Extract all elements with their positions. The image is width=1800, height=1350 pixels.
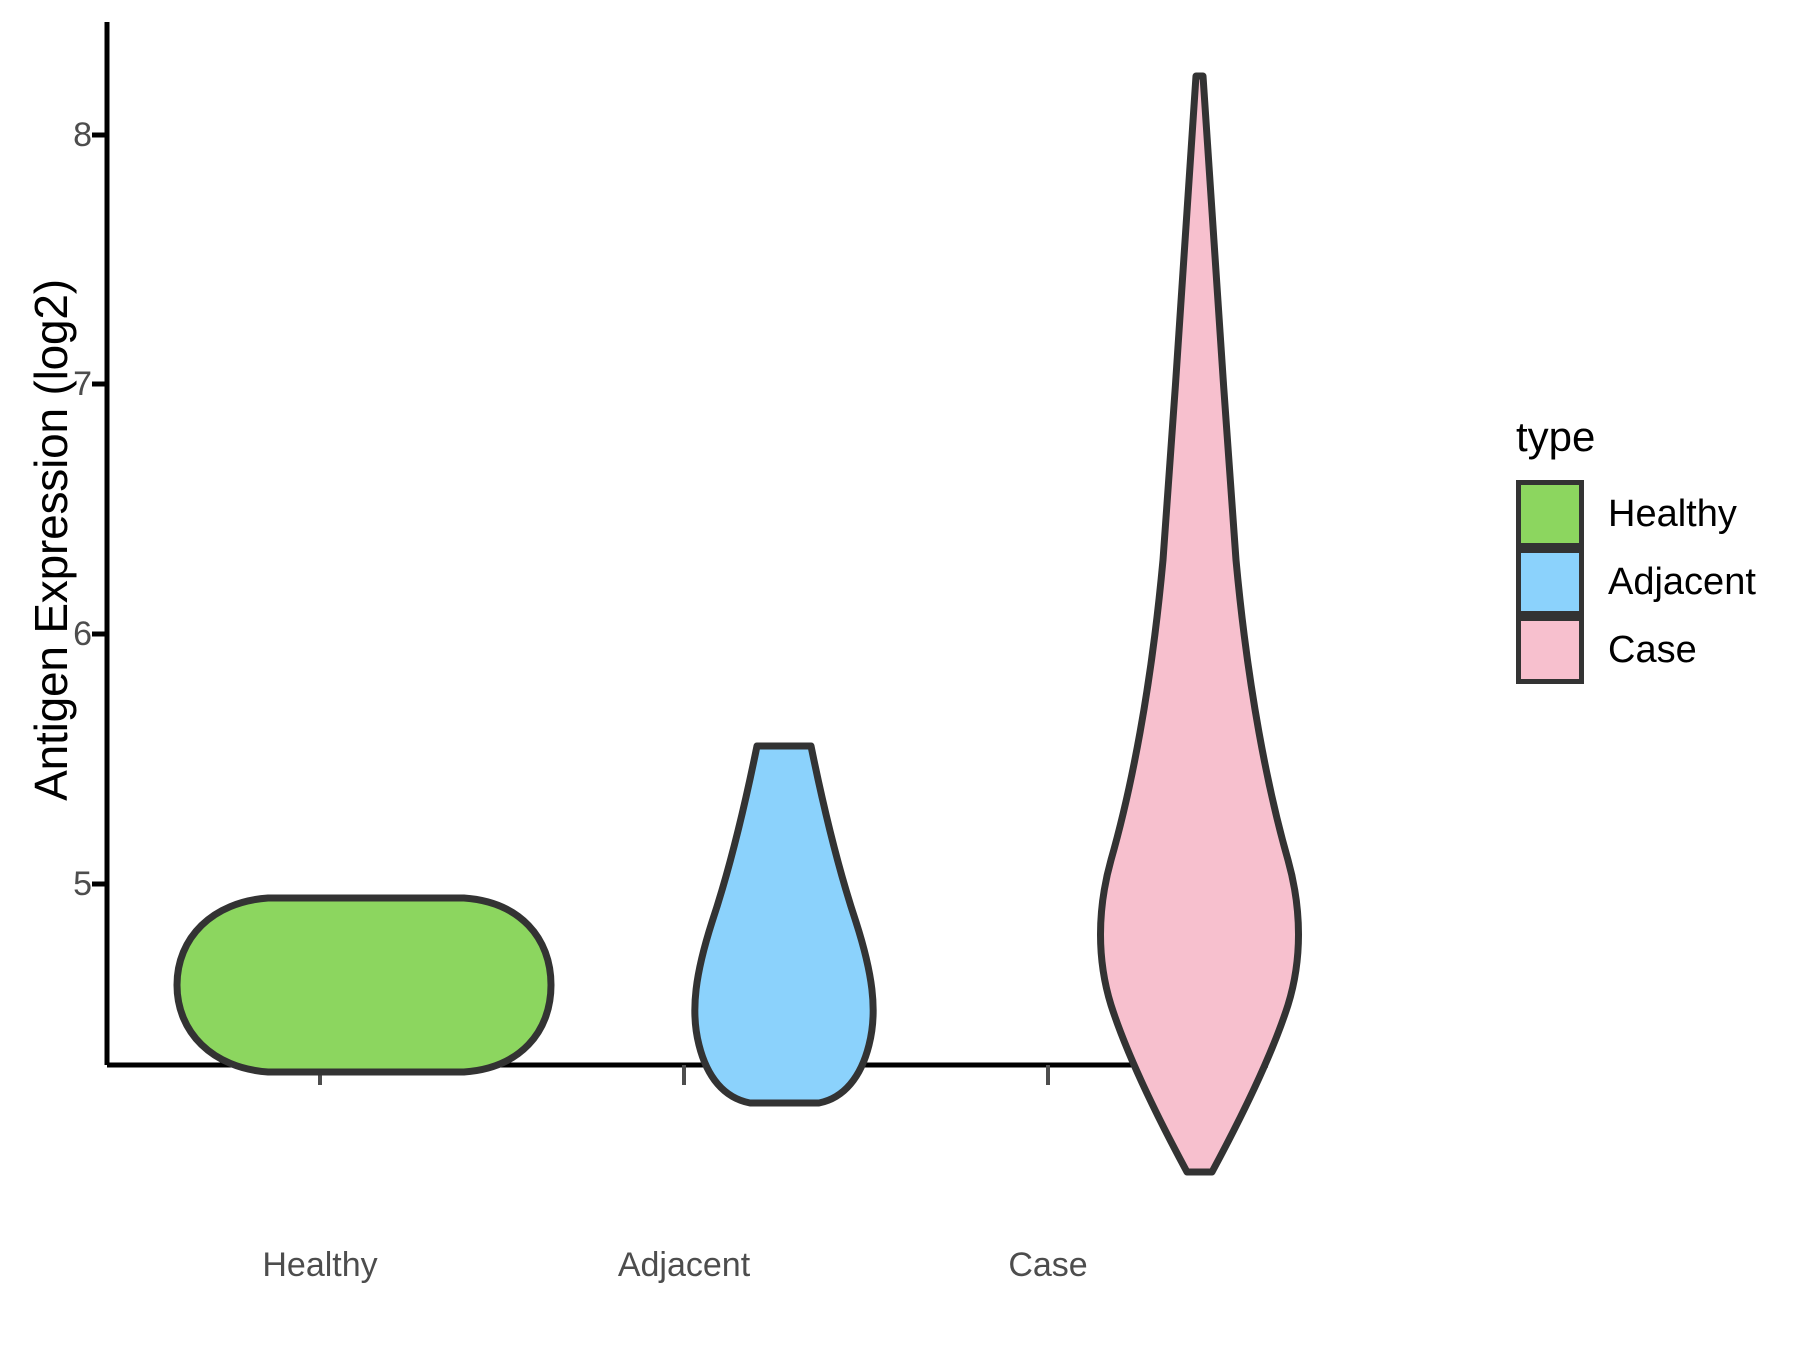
legend-label-case: Case bbox=[1608, 631, 1697, 669]
legend-swatch-adjacent bbox=[1516, 548, 1584, 616]
violin-case[interactable] bbox=[1101, 76, 1299, 1172]
legend-label-healthy: Healthy bbox=[1608, 495, 1737, 533]
legend-swatch-case bbox=[1516, 616, 1584, 684]
x-tick-label-adjacent: Adjacent bbox=[618, 1248, 750, 1282]
legend: type Healthy Adjacent Case bbox=[1516, 416, 1786, 684]
violin-plot-figure: Antigen Expression (log2) 8 7 6 5 bbox=[0, 0, 1800, 1350]
legend-label-adjacent: Adjacent bbox=[1608, 563, 1756, 601]
legend-title: type bbox=[1516, 416, 1786, 458]
x-tick-label-healthy: Healthy bbox=[262, 1248, 377, 1282]
legend-item-adjacent[interactable]: Adjacent bbox=[1516, 548, 1786, 616]
violin-healthy[interactable] bbox=[177, 898, 551, 1072]
x-tick-label-case: Case bbox=[1008, 1248, 1087, 1282]
legend-item-healthy[interactable]: Healthy bbox=[1516, 480, 1786, 548]
legend-swatch-healthy bbox=[1516, 480, 1584, 548]
legend-item-case[interactable]: Case bbox=[1516, 616, 1786, 684]
violin-adjacent[interactable] bbox=[695, 746, 873, 1103]
